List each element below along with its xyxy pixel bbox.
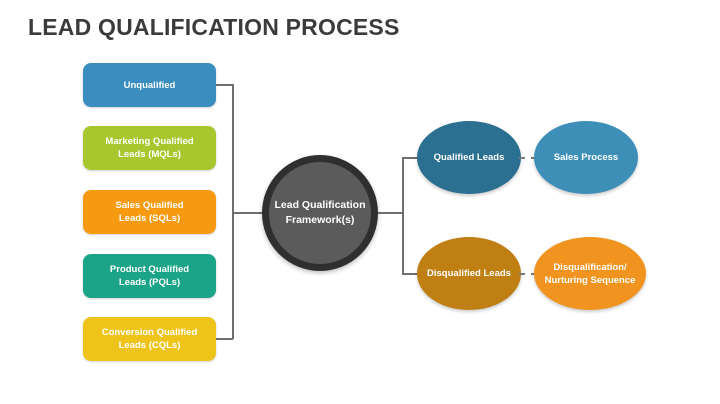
outcome-node-qualified-leads[interactable]: Qualified Leads	[417, 121, 521, 194]
stage-label-line2: Leads (MQLs)	[105, 148, 193, 161]
stage-label-line2: Leads (SQLs)	[115, 212, 183, 225]
connector-left-to-center	[232, 212, 263, 214]
stage-box-sales-qualified-leads[interactable]: Sales Qualified Leads (SQLs)	[83, 190, 216, 234]
outcome-label-line2: Leads	[484, 268, 511, 279]
outcome-node-disqualification-nurturing-sequence[interactable]: Disqualification/ Nurturing Sequence	[534, 237, 646, 310]
connector-right-trunk	[402, 157, 404, 274]
page-title: LEAD QUALIFICATION PROCESS	[28, 14, 400, 41]
stage-label-line1: Conversion Qualified	[102, 326, 198, 339]
outcome-label-line1: Disqualified	[427, 268, 481, 279]
connector-center-to-right	[378, 212, 403, 214]
connector-stage-1-stub	[216, 84, 233, 86]
outcome-label-line1: Sales	[554, 152, 579, 163]
outcome-node-disqualified-leads[interactable]: Disqualified Leads	[417, 237, 521, 310]
center-label-line1: Lead	[274, 199, 299, 211]
stage-box-unqualified[interactable]: Unqualified	[83, 63, 216, 107]
stage-label-line2: Leads (PQLs)	[110, 276, 189, 289]
center-label-line3: Framework(s)	[286, 214, 355, 226]
outcome-label-line2: Leads	[477, 152, 504, 163]
stage-box-marketing-qualified-leads[interactable]: Marketing Qualified Leads (MQLs)	[83, 126, 216, 170]
diagram-canvas: LEAD QUALIFICATION PROCESS Unqualified M…	[0, 0, 720, 404]
stage-box-conversion-qualified-leads[interactable]: Conversion Qualified Leads (CQLs)	[83, 317, 216, 361]
stage-label-line1: Unqualified	[124, 79, 176, 92]
center-label-line2: Qualification	[302, 199, 366, 211]
stage-box-product-qualified-leads[interactable]: Product Qualified Leads (PQLs)	[83, 254, 216, 298]
outcome-label-line2: Nurturing	[545, 275, 588, 286]
connector-stage-5-stub	[216, 338, 233, 340]
center-node-lead-qualification-framework[interactable]: Lead Qualification Framework(s)	[262, 155, 378, 271]
outcome-label-line1: Qualified	[434, 152, 475, 163]
stage-label-line1: Marketing Qualified	[105, 135, 193, 148]
stage-label-line1: Product Qualified	[110, 263, 189, 276]
outcome-label-line2: Process	[581, 152, 618, 163]
outcome-node-sales-process[interactable]: Sales Process	[534, 121, 638, 194]
outcome-label-line3: Sequence	[591, 275, 636, 286]
stage-label-line1: Sales Qualified	[115, 199, 183, 212]
stage-label-line2: Leads (CQLs)	[102, 339, 198, 352]
outcome-label-line1: Disqualification/	[553, 262, 626, 273]
